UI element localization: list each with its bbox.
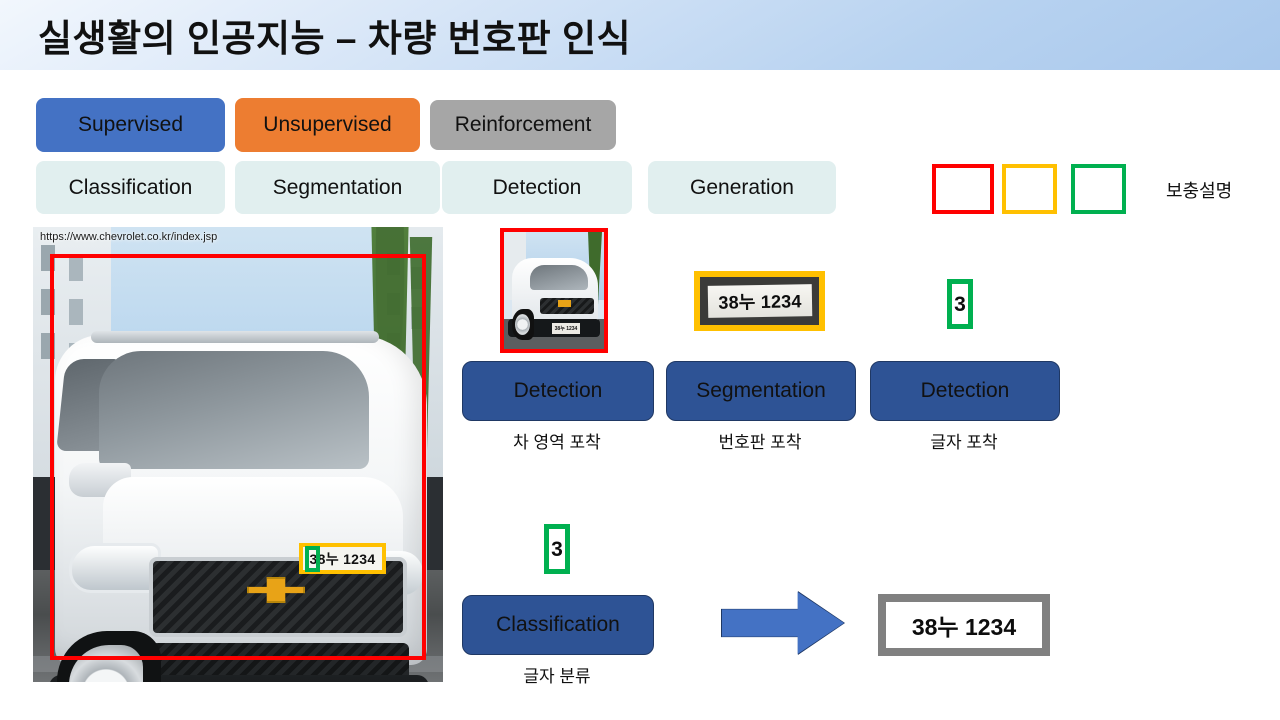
pipeline-caption-segmentation-plate: 번호판 포착 — [666, 428, 854, 453]
car-bounding-box — [50, 254, 426, 660]
chip-segmentation-label: Segmentation — [273, 176, 403, 200]
crop-car-plate: 38누 1234 — [552, 323, 580, 334]
legend-red-box — [932, 164, 994, 214]
chip-reinforcement-label: Reinforcement — [455, 113, 592, 137]
crop-plate-inner: 38누 1234 — [707, 284, 812, 318]
pipeline-button-classification[interactable]: Classification — [462, 595, 654, 655]
final-result-box: 38누 1234 — [878, 594, 1050, 656]
chip-classification-label: Classification — [69, 176, 193, 200]
crop-character-bottom-text: 3 — [551, 539, 563, 560]
crop-car-rim — [515, 314, 530, 335]
final-result-text: 38누 1234 — [912, 608, 1016, 642]
crop-car-windshield — [530, 265, 588, 291]
pipeline-button-classification-label: Classification — [496, 613, 620, 637]
legend-yellow-box — [1002, 164, 1057, 214]
chip-supervised-label: Supervised — [78, 113, 183, 137]
crop-car-region: 38누 1234 — [500, 228, 608, 353]
result-arrow-icon — [722, 592, 844, 654]
chip-detection-label: Detection — [493, 176, 582, 200]
crop-character-region-bottom: 3 — [544, 524, 570, 574]
character-box — [305, 546, 320, 572]
legend-label: 보충설명 — [1166, 177, 1232, 203]
chip-supervised[interactable]: Supervised — [36, 98, 225, 152]
crop-character-region: 3 — [947, 279, 973, 329]
crop-plate-text: 38누 1234 — [718, 287, 802, 314]
pipeline-button-detection-char[interactable]: Detection — [870, 361, 1060, 421]
photo-source-watermark: https://www.chevrolet.co.kr/index.jsp — [40, 231, 217, 243]
crop-plate-region: 38누 1234 — [694, 271, 825, 331]
crop-character-text: 3 — [954, 294, 966, 315]
pipeline-caption-classification: 글자 분류 — [462, 662, 652, 687]
legend-green-box — [1071, 164, 1126, 214]
chip-generation[interactable]: Generation — [648, 161, 836, 214]
chip-unsupervised-label: Unsupervised — [263, 113, 391, 137]
pipeline-button-segmentation-plate-label: Segmentation — [696, 379, 826, 403]
pipeline-caption-detection-car: 차 영역 포착 — [462, 428, 652, 453]
pipeline-button-detection-car[interactable]: Detection — [462, 361, 654, 421]
pipeline-button-segmentation-plate[interactable]: Segmentation — [666, 361, 856, 421]
chip-reinforcement[interactable]: Reinforcement — [430, 100, 616, 150]
pipeline-button-detection-char-label: Detection — [921, 379, 1010, 403]
chip-unsupervised[interactable]: Unsupervised — [235, 98, 420, 152]
page-title: 실생활의 인공지능 – 차량 번호판 인식 — [38, 8, 631, 62]
crop-car-plate-text: 38누 1234 — [555, 325, 578, 332]
chip-generation-label: Generation — [690, 176, 794, 200]
crop-chevrolet-logo-icon — [558, 300, 571, 307]
pipeline-button-detection-car-label: Detection — [514, 379, 603, 403]
chip-segmentation[interactable]: Segmentation — [235, 161, 440, 214]
slide-header: 실생활의 인공지능 – 차량 번호판 인식 — [0, 0, 1280, 70]
chip-classification[interactable]: Classification — [36, 161, 225, 214]
chip-detection[interactable]: Detection — [442, 161, 632, 214]
pipeline-caption-detection-char: 글자 포착 — [870, 428, 1058, 453]
